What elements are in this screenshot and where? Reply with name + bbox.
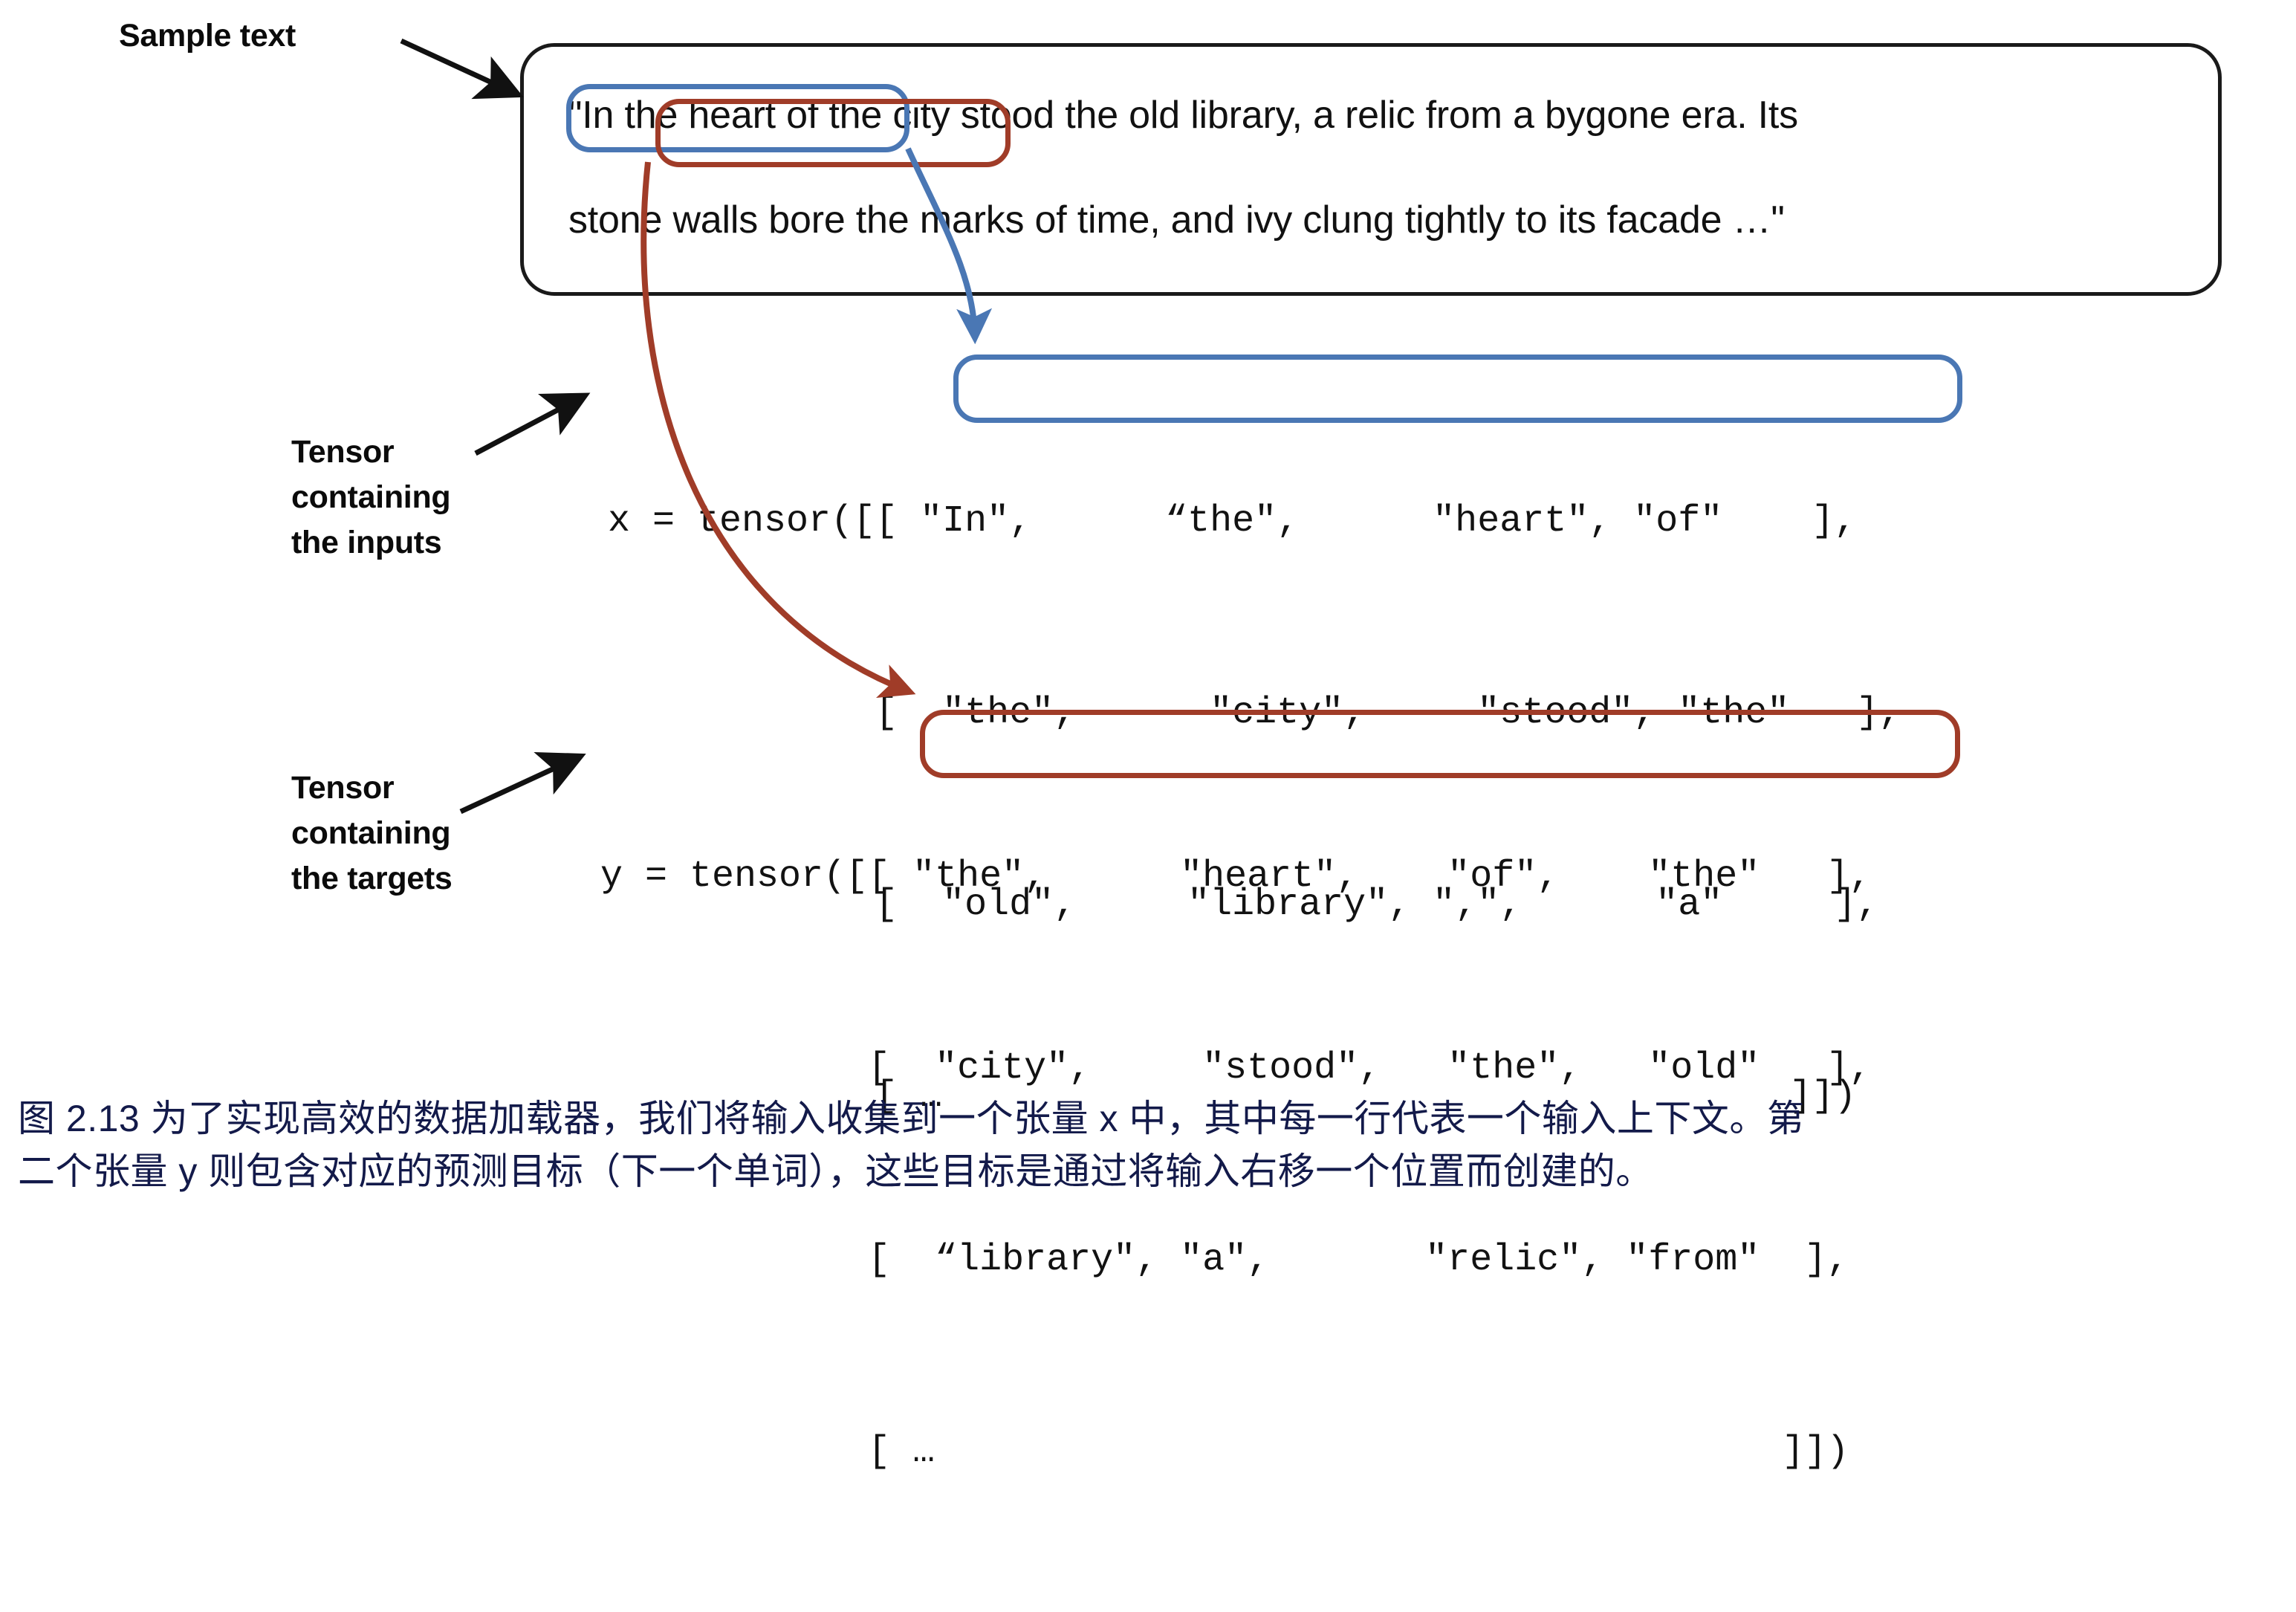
- targets-callout-label: Tensor containing the targets: [291, 765, 453, 902]
- sample-text-pointer-arrow: [401, 41, 514, 93]
- y-tensor-row-3: [ “library", "a", "relic", "from" ],: [600, 1229, 1871, 1292]
- sample-text-line-2: stone walls bore the marks of time, and …: [568, 198, 1785, 242]
- sample-text-box: "In the heart of the city stood the old …: [520, 43, 2222, 296]
- inputs-callout-label: Tensor containing the inputs: [291, 430, 450, 566]
- inputs-pointer-arrow: [476, 398, 581, 453]
- figure-caption: 图 2.13 为了实现高效的数据加载器，我们将输入收集到一个张量 x 中，其中每…: [18, 1093, 2277, 1198]
- y-tensor-row-1: y = tensor([[ "the", "heart", "of", "the…: [600, 845, 1871, 909]
- y-tensor-row-2: [ "city", "stood", "the", "old" ],: [600, 1037, 1871, 1101]
- caption-line-1: 图 2.13 为了实现高效的数据加载器，我们将输入收集到一个张量 x 中，其中每…: [18, 1093, 2277, 1145]
- x-tensor-row-1: x = tensor([[ "In", “the", "heart", "of"…: [608, 490, 1901, 554]
- x-tensor-first-row-highlight: [953, 355, 1962, 423]
- figure-canvas: Sample text "In the heart of the city st…: [0, 0, 2296, 1240]
- caption-line-2: 二个张量 y 则包含对应的预测目标（下一个单词），这些目标是通过将输入右移一个位…: [18, 1145, 2277, 1198]
- targets-pointer-arrow: [461, 758, 577, 812]
- sample-text-red-highlight: [655, 99, 1011, 167]
- sample-text-callout-label: Sample text: [119, 13, 296, 59]
- y-tensor-row-4: [ … ]]): [600, 1420, 1871, 1484]
- y-tensor-first-row-highlight: [920, 710, 1960, 778]
